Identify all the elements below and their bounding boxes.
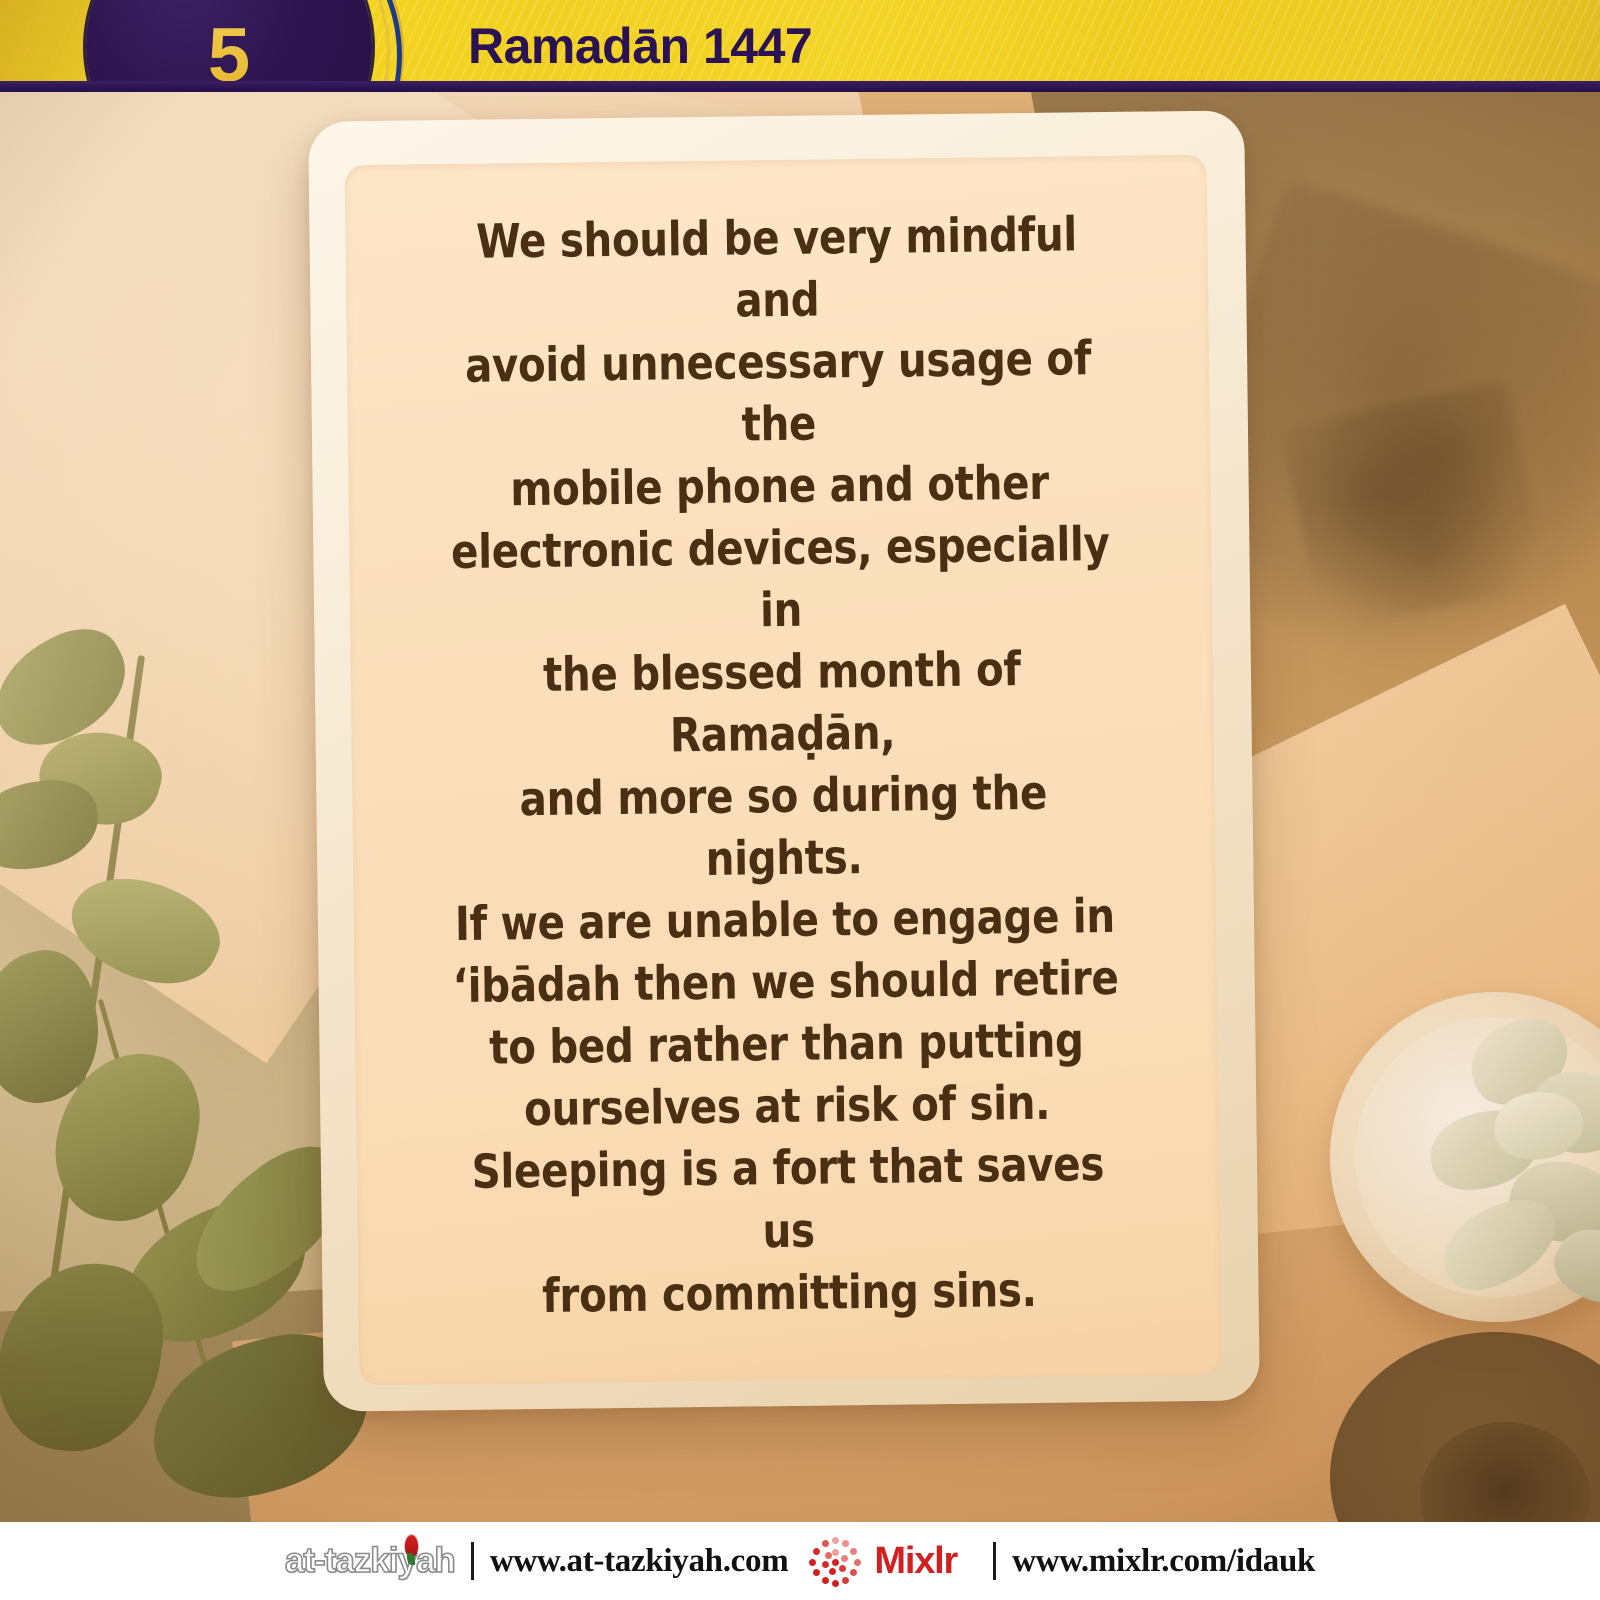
quote-text: We should be very mindful and avoid unne… [436,204,1129,1329]
mixlr-dots-icon [808,1535,860,1587]
header-bar: 5 Ramadān 1447 [0,0,1600,92]
mixlr-logo[interactable]: Mixlr [808,1535,957,1587]
footer-bar: at-tazkiyah www.at-tazkiyah.com [0,1522,1600,1600]
footer-divider-2 [993,1542,996,1580]
page-title: Ramadān 1447 [468,17,812,75]
day-number: 5 [86,0,372,92]
brand-label: at-tazkiyah [285,1541,455,1580]
poster-root: 5 Ramadān 1447 [0,0,1600,1600]
quote-card: We should be very mindful and avoid unne… [345,155,1222,1385]
footer-content: at-tazkiyah www.at-tazkiyah.com [285,1535,1315,1587]
website-url[interactable]: www.at-tazkiyah.com [490,1543,789,1580]
rose-icon [405,1535,418,1557]
mixlr-url[interactable]: www.mixlr.com/idauk [1012,1543,1315,1580]
footer-divider [471,1542,474,1580]
quote-card-content: We should be very mindful and avoid unne… [345,155,1222,1385]
mixlr-label: Mixlr [874,1540,957,1583]
brand-logo-at-tazkiyah[interactable]: at-tazkiyah [285,1541,455,1581]
header-bottom-rule [0,81,1600,92]
